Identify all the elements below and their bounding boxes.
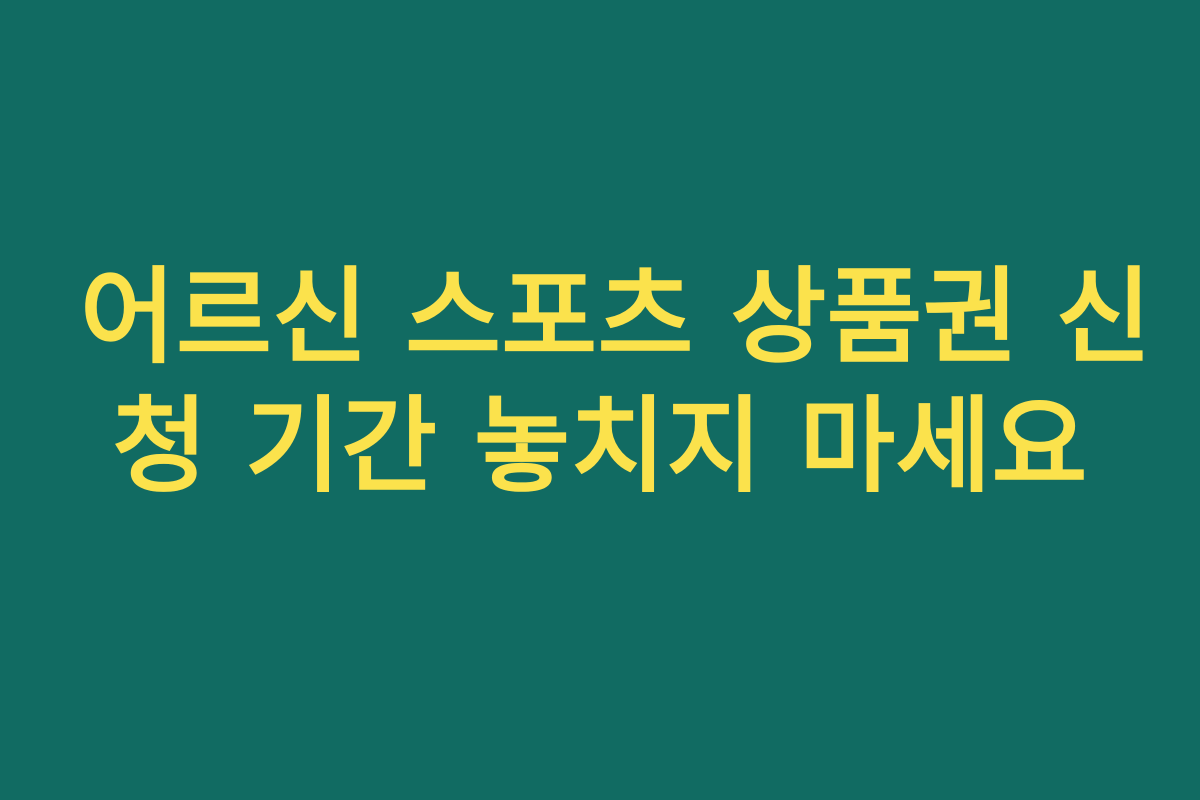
- headline-line-2: 청 기간 놓치지 마세요: [80, 383, 1120, 510]
- headline-text: 어르신 스포츠 상품권 신 청 기간 놓치지 마세요: [80, 254, 1120, 510]
- text-banner: 어르신 스포츠 상품권 신 청 기간 놓치지 마세요: [0, 0, 1200, 800]
- headline-line-1: 어르신 스포츠 상품권 신: [80, 254, 1120, 381]
